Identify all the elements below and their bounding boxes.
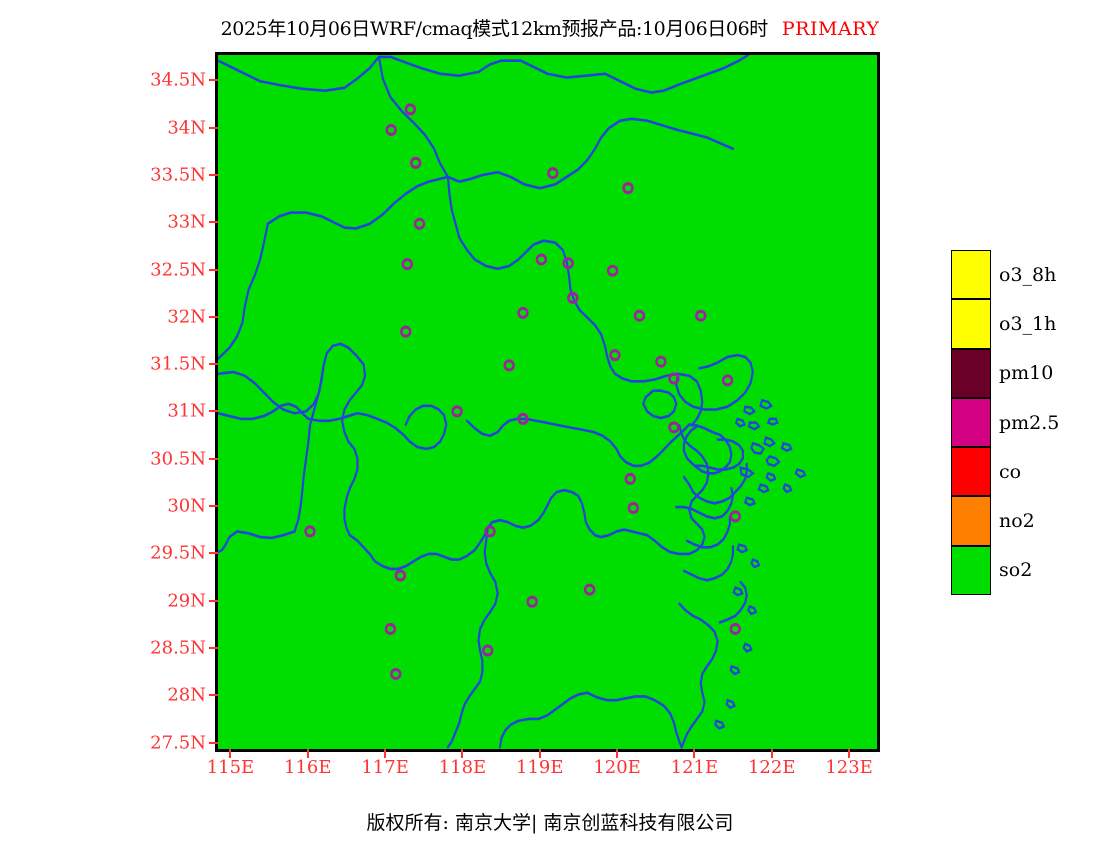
x-tick-mark bbox=[616, 749, 618, 758]
x-tick-mark bbox=[461, 749, 463, 758]
copyright-footer: 版权所有: 南京大学| 南京创蓝科技有限公司 bbox=[0, 808, 1100, 835]
legend-label: pm10 bbox=[999, 362, 1053, 384]
x-tick-mark bbox=[307, 749, 309, 758]
y-tick-mark bbox=[209, 363, 218, 365]
legend-color-swatch bbox=[951, 250, 991, 299]
legend-label: no2 bbox=[999, 510, 1035, 532]
y-tick-mark bbox=[209, 505, 218, 507]
legend-row-so2[interactable]: so2 bbox=[951, 546, 1096, 595]
y-tick-mark bbox=[209, 221, 218, 223]
x-tick-mark bbox=[693, 749, 695, 758]
pollutant-legend: o3_8ho3_1hpm10pm2.5cono2so2 bbox=[951, 250, 1096, 595]
y-tick-mark bbox=[209, 647, 218, 649]
y-tick-mark bbox=[209, 79, 218, 81]
x-tick-label: 115E bbox=[207, 757, 255, 778]
legend-row-co[interactable]: co bbox=[951, 447, 1096, 496]
legend-label: co bbox=[999, 461, 1021, 483]
legend-label: pm2.5 bbox=[999, 412, 1059, 434]
y-tick-mark bbox=[209, 269, 218, 271]
y-tick-mark bbox=[209, 127, 218, 129]
legend-color-swatch bbox=[951, 349, 991, 398]
forecast-map-page: 2025年10月06日WRF/cmaq模式12km预报产品:10月06日06时P… bbox=[0, 0, 1100, 850]
x-tick-label: 120E bbox=[593, 757, 641, 778]
x-tick-mark bbox=[848, 749, 850, 758]
x-tick-label: 117E bbox=[361, 757, 409, 778]
legend-color-swatch bbox=[951, 299, 991, 348]
x-tick-label: 121E bbox=[671, 757, 719, 778]
x-tick-mark bbox=[384, 749, 386, 758]
legend-row-o38h[interactable]: o3_8h bbox=[951, 250, 1096, 299]
legend-row-o31h[interactable]: o3_1h bbox=[951, 299, 1096, 348]
x-tick-label: 116E bbox=[284, 757, 332, 778]
y-tick-mark bbox=[209, 552, 218, 554]
legend-color-swatch bbox=[951, 496, 991, 545]
x-tick-mark bbox=[229, 749, 231, 758]
legend-color-swatch bbox=[951, 398, 991, 447]
legend-color-swatch bbox=[951, 447, 991, 496]
legend-label: o3_1h bbox=[999, 313, 1056, 335]
legend-color-swatch bbox=[951, 546, 991, 595]
x-tick-label: 119E bbox=[516, 757, 564, 778]
y-tick-mark bbox=[209, 316, 218, 318]
y-tick-mark bbox=[209, 410, 218, 412]
x-tick-mark bbox=[539, 749, 541, 758]
x-tick-mark bbox=[771, 749, 773, 758]
y-tick-mark bbox=[209, 600, 218, 602]
x-tick-label: 118E bbox=[439, 757, 487, 778]
legend-label: so2 bbox=[999, 559, 1032, 581]
y-tick-mark bbox=[209, 742, 218, 744]
x-tick-label: 123E bbox=[825, 757, 873, 778]
legend-label: o3_8h bbox=[999, 264, 1056, 286]
legend-row-no2[interactable]: no2 bbox=[951, 496, 1096, 545]
legend-row-pm10[interactable]: pm10 bbox=[951, 349, 1096, 398]
y-tick-mark bbox=[209, 458, 218, 460]
x-tick-label: 122E bbox=[748, 757, 796, 778]
x-axis: 115E116E117E118E119E120E121E122E123E bbox=[0, 0, 1100, 850]
legend-row-pm25[interactable]: pm2.5 bbox=[951, 398, 1096, 447]
y-tick-mark bbox=[209, 694, 218, 696]
y-tick-mark bbox=[209, 174, 218, 176]
